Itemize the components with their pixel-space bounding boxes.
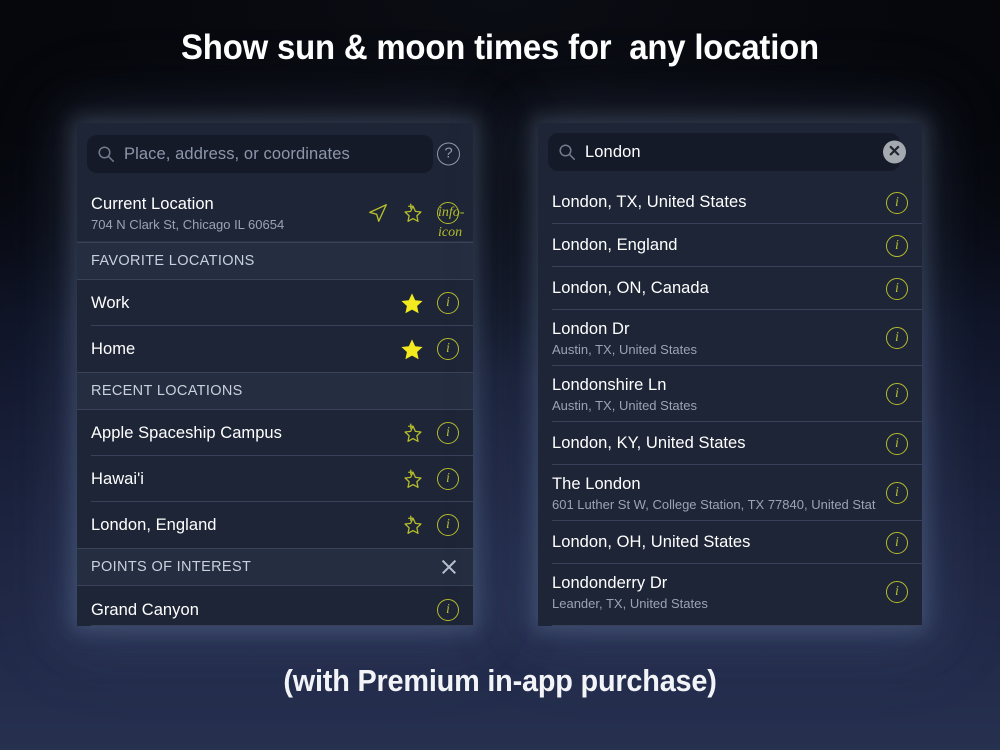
list-item[interactable]: Londonshire Ln Austin, TX, United States… xyxy=(538,366,922,422)
list-item[interactable]: Grand Canyon i xyxy=(77,586,473,626)
star-filled-icon[interactable] xyxy=(399,290,425,316)
result-title: London, TX, United States xyxy=(552,193,876,212)
list-item[interactable]: Home i xyxy=(77,326,473,372)
result-title: Londonshire Ln xyxy=(552,376,876,395)
list-item-label: London, England xyxy=(91,516,391,535)
search-placeholder: Place, address, or coordinates xyxy=(124,145,350,164)
list-item[interactable]: London, KY, United States i xyxy=(538,422,922,465)
section-title: POINTS OF INTEREST xyxy=(91,559,251,575)
section-header-favorite-locations: FAVORITE LOCATIONS xyxy=(77,242,473,280)
locations-panel: Place, address, or coordinates ? Current… xyxy=(77,123,473,626)
result-subtitle: 601 Luther St W, College Station, TX 778… xyxy=(552,497,876,512)
search-input[interactable]: Place, address, or coordinates xyxy=(87,135,433,173)
list-item[interactable]: Work i xyxy=(77,280,473,326)
info-icon[interactable]: i xyxy=(437,599,459,621)
info-icon[interactable]: i xyxy=(437,292,459,314)
clear-icon[interactable]: ✕ xyxy=(883,141,906,164)
page-title: Show sun & moon times for any location xyxy=(30,28,970,68)
info-icon[interactable]: i xyxy=(437,338,459,360)
result-subtitle: Austin, TX, United States xyxy=(552,398,876,413)
result-title: The London xyxy=(552,475,876,494)
result-title: London Dr xyxy=(552,320,876,339)
list-item[interactable]: London, OH, United States i xyxy=(538,521,922,564)
navigation-arrow-icon[interactable] xyxy=(367,202,389,224)
search-results-panel: London ✕ London, TX, United States i Lon… xyxy=(538,123,922,626)
list-item[interactable]: The London 601 Luther St W, College Stat… xyxy=(538,465,922,521)
info-icon[interactable]: info-icon xyxy=(437,202,459,224)
star-add-icon[interactable] xyxy=(401,201,425,225)
info-icon[interactable]: i xyxy=(886,532,908,554)
section-title: RECENT LOCATIONS xyxy=(91,383,243,399)
section-header-points-of-interest: POINTS OF INTEREST xyxy=(77,548,473,586)
search-icon xyxy=(97,145,115,163)
info-icon[interactable]: i xyxy=(886,581,908,603)
star-filled-icon[interactable] xyxy=(399,336,425,362)
right-search-bar: London ✕ xyxy=(538,123,922,181)
list-item[interactable]: Londonderry Dr Leander, TX, United State… xyxy=(538,564,922,620)
info-icon[interactable]: i xyxy=(886,482,908,504)
info-icon[interactable]: i xyxy=(886,235,908,257)
star-add-icon[interactable] xyxy=(401,513,425,537)
list-item[interactable]: London, England i xyxy=(77,502,473,548)
list-item[interactable]: London, ON, Canada i xyxy=(538,267,922,310)
result-title: Londonderry Dr xyxy=(552,574,876,593)
info-icon[interactable]: i xyxy=(886,278,908,300)
search-icon xyxy=(558,143,576,161)
search-query-value: London xyxy=(585,143,641,162)
list-item-label: Work xyxy=(91,294,389,313)
current-location-title: Current Location xyxy=(91,195,357,214)
close-icon[interactable] xyxy=(439,557,459,577)
info-icon[interactable]: i xyxy=(886,327,908,349)
list-item[interactable]: London, TX, United States i xyxy=(538,181,922,224)
result-title: London, England xyxy=(552,236,876,255)
list-item[interactable]: London, England i xyxy=(538,224,922,267)
current-location-address: 704 N Clark St, Chicago IL 60654 xyxy=(91,217,357,232)
list-item[interactable]: Apple Spaceship Campus i xyxy=(77,410,473,456)
list-divider xyxy=(91,625,473,626)
list-divider xyxy=(552,625,922,626)
help-icon[interactable]: ? xyxy=(437,143,460,166)
info-icon[interactable]: i xyxy=(886,433,908,455)
section-header-recent-locations: RECENT LOCATIONS xyxy=(77,372,473,410)
info-icon[interactable]: i xyxy=(886,192,908,214)
star-add-icon[interactable] xyxy=(401,421,425,445)
page-caption: (with Premium in-app purchase) xyxy=(35,663,965,699)
list-item[interactable]: London Dr Austin, TX, United States i xyxy=(538,310,922,366)
result-title: London, ON, Canada xyxy=(552,279,876,298)
result-subtitle: Leander, TX, United States xyxy=(552,596,876,611)
result-subtitle: Austin, TX, United States xyxy=(552,342,876,357)
left-search-bar: Place, address, or coordinates ? xyxy=(77,123,473,185)
search-input[interactable]: London xyxy=(548,133,900,171)
list-item-label: Hawai'i xyxy=(91,470,391,489)
section-title: FAVORITE LOCATIONS xyxy=(91,253,255,269)
result-title: London, OH, United States xyxy=(552,533,876,552)
list-item[interactable]: Hawai'i i xyxy=(77,456,473,502)
info-icon[interactable]: i xyxy=(437,468,459,490)
current-location-row[interactable]: Current Location 704 N Clark St, Chicago… xyxy=(77,185,473,242)
info-icon[interactable]: i xyxy=(437,422,459,444)
info-icon[interactable]: i xyxy=(886,383,908,405)
result-title: London, KY, United States xyxy=(552,434,876,453)
list-item-label: Apple Spaceship Campus xyxy=(91,424,391,443)
info-icon[interactable]: i xyxy=(437,514,459,536)
star-add-icon[interactable] xyxy=(401,467,425,491)
list-item-label: Home xyxy=(91,340,389,359)
list-item-label: Grand Canyon xyxy=(91,601,427,620)
